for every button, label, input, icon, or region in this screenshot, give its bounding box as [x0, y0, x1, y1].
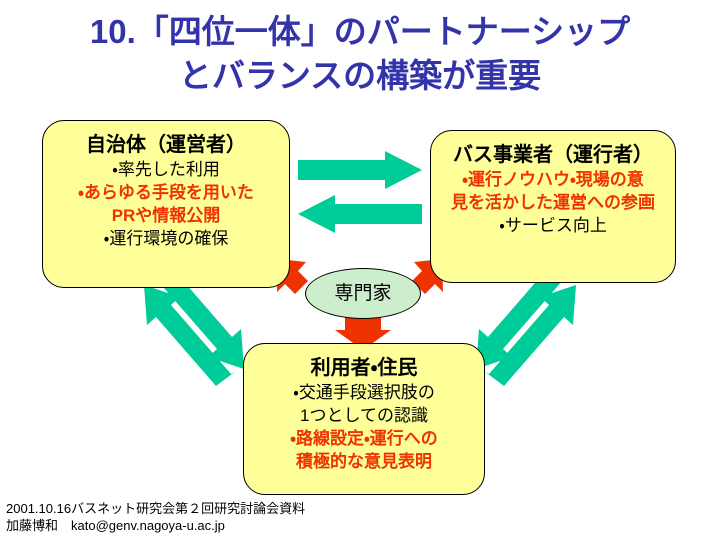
footer-line-2: 加藤博和 kato@genv.nagoya-u.ac.jp	[6, 517, 305, 534]
node-government[interactable]: 自治体（運営者） ・率先した利用 ・あらゆる手段を用いた PRや情報公開 ・運行…	[42, 120, 290, 288]
node-users-line-1: ・交通手段選択肢の	[244, 381, 484, 404]
node-users-line-2: 1つとしての認識	[244, 404, 484, 427]
node-government-line-2: ・あらゆる手段を用いた	[43, 181, 289, 204]
footer-line-1: 2001.10.16バスネット研究会第２回研究討論会資料	[6, 500, 305, 517]
slide-canvas: 10.「四位一体」のパートナーシップ とバランスの構築が重要 自治体（運営者） …	[0, 0, 720, 540]
node-users-heading: 利用者・住民	[244, 356, 484, 381]
node-users[interactable]: 利用者・住民 ・交通手段選択肢の 1つとしての認識 ・路線設定・運行への 積極的…	[243, 343, 485, 495]
node-bus-operator[interactable]: バス事業者（運行者） ・運行ノウハウ・現場の意 見を活かした運営への参画 ・サー…	[430, 130, 676, 283]
node-bus-operator-heading: バス事業者（運行者）	[431, 143, 675, 168]
node-bus-operator-line-2: 見を活かした運営への参画	[431, 191, 675, 214]
node-government-line-4: ・運行環境の確保	[43, 227, 289, 250]
node-expert[interactable]: 専門家	[305, 268, 421, 319]
node-bus-operator-line-1: ・運行ノウハウ・現場の意	[431, 168, 675, 191]
green-arrow-left-icon	[298, 195, 422, 233]
node-bus-operator-line-3: ・サービス向上	[431, 214, 675, 237]
green-arrow-right-icon	[298, 151, 422, 189]
node-government-line-1: ・率先した利用	[43, 158, 289, 181]
node-government-line-3: PRや情報公開	[43, 204, 289, 227]
node-government-heading: 自治体（運営者）	[43, 133, 289, 158]
node-users-line-4: 積極的な意見表明	[244, 450, 484, 473]
node-expert-label: 専門家	[334, 283, 391, 304]
footer: 2001.10.16バスネット研究会第２回研究討論会資料 加藤博和 kato@g…	[6, 500, 305, 534]
node-users-line-3: ・路線設定・運行への	[244, 427, 484, 450]
